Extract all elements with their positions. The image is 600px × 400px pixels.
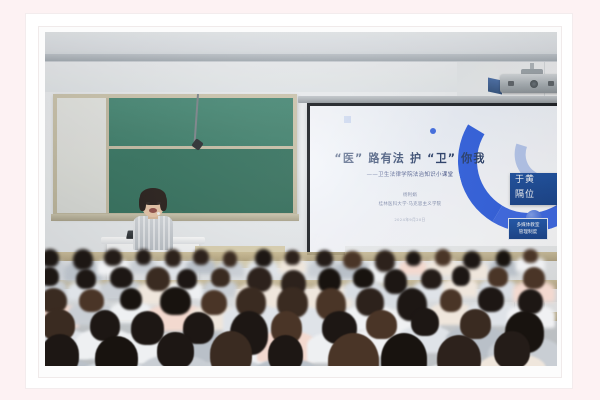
student-head — [440, 289, 463, 312]
wall-banner-line-1: 于黄 — [515, 173, 557, 188]
student-head — [285, 250, 299, 264]
wall-plate-sign: 多媒体教室 管理制度 — [508, 218, 548, 240]
student-head — [488, 267, 508, 287]
student-head — [201, 290, 227, 316]
student-head — [223, 251, 237, 267]
student-head — [157, 332, 193, 366]
presenter-torso — [133, 216, 173, 250]
student-head — [316, 250, 333, 268]
ceiling-beam — [45, 54, 557, 61]
student-head — [406, 251, 421, 267]
student-head — [255, 249, 272, 267]
student-head — [496, 250, 511, 266]
blackboard — [53, 94, 297, 217]
student-head — [177, 269, 196, 288]
student-head — [160, 287, 190, 315]
slide-presenter-name: 杨利娟 — [310, 192, 510, 198]
slide-title: “医” 路有法 护 “卫” 你我 — [314, 150, 506, 166]
student-head — [343, 251, 362, 269]
student-head — [523, 267, 545, 289]
student-head — [76, 269, 96, 289]
audience-area — [45, 246, 557, 366]
projector-vent — [508, 81, 514, 86]
page-root: “医” 路有法 护 “卫” 你我 ——卫生法律学院法治知识小课堂 杨利娟 桂林医… — [0, 0, 600, 400]
screen-housing — [298, 96, 557, 103]
student-head — [210, 331, 252, 366]
student-head — [435, 249, 451, 266]
ceiling-projector — [500, 74, 557, 93]
student-head — [193, 249, 209, 265]
student-head — [421, 269, 441, 290]
projector-lens-icon — [530, 80, 538, 88]
student-head — [110, 267, 132, 288]
student-head — [366, 310, 397, 339]
presenter-mic-icon — [157, 212, 160, 215]
student-head — [494, 331, 530, 366]
student-head — [211, 268, 230, 287]
student-head — [353, 268, 374, 288]
student-head — [268, 335, 303, 366]
wall-banner-sign: 于黄 隔位 — [510, 173, 557, 205]
student-head — [478, 287, 504, 311]
student-head — [452, 266, 471, 286]
student-head — [460, 309, 491, 339]
student-head — [136, 249, 150, 265]
slide-organization: 桂林医科大学·马克思主义学院 — [310, 201, 510, 207]
chalk-tray — [51, 214, 299, 221]
blackboard-side-panel — [57, 98, 109, 213]
presenter-eye-right — [157, 202, 161, 204]
slide-date: 2024年9月20日 — [310, 217, 510, 223]
student-head — [45, 267, 59, 286]
student-head — [146, 267, 170, 291]
student-head — [45, 249, 59, 267]
presenter-eye-left — [146, 202, 150, 204]
student-head — [104, 249, 121, 266]
presenter-hair-right — [160, 195, 167, 211]
wall-banner-line-2: 隔位 — [515, 188, 557, 203]
student-head — [120, 288, 142, 311]
student-head — [411, 308, 439, 336]
presenter-hair-left — [139, 195, 146, 211]
slide-subtitle: ——卫生法律学院法治知识小课堂 — [310, 170, 510, 178]
blackboard-surface — [57, 98, 293, 213]
student-head — [73, 249, 93, 270]
student-head — [79, 289, 104, 312]
presenter-mouth — [149, 208, 157, 213]
wall-plate-line-1: 多媒体教室 — [509, 222, 547, 229]
student-head — [523, 249, 538, 263]
slide-text-block: “医” 路有法 护 “卫” 你我 ——卫生法律学院法治知识小课堂 杨利娟 桂林医… — [310, 106, 510, 223]
wall-plate-line-2: 管理制度 — [509, 229, 547, 236]
projector-vent — [548, 81, 554, 86]
student-head — [165, 249, 182, 266]
lecture-hall-photo: “医” 路有法 护 “卫” 你我 ——卫生法律学院法治知识小课堂 杨利娟 桂林医… — [45, 32, 557, 366]
presenter-jacket-pattern — [133, 216, 173, 250]
